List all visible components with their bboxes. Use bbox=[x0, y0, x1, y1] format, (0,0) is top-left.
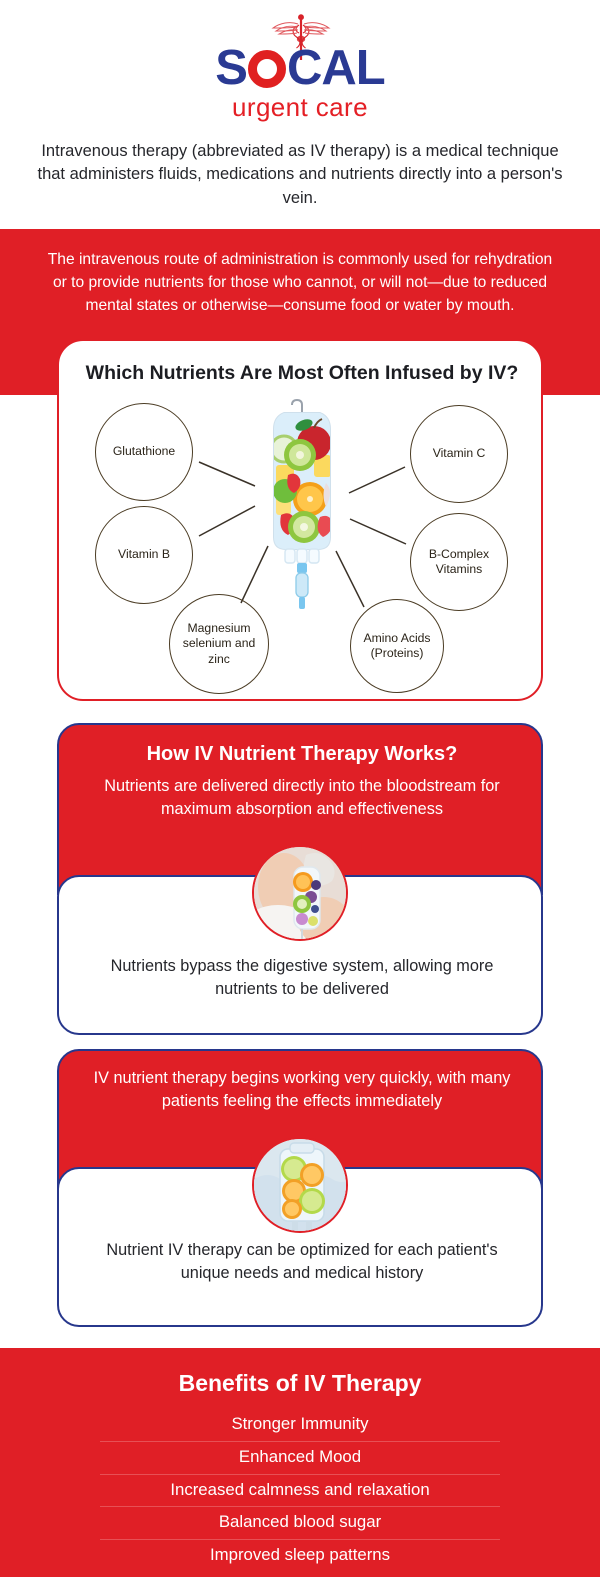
nutrients-diagram: Glutathione Vitamin C Vitamin B B-Comple… bbox=[59, 341, 545, 703]
iv-bag-with-fruits-image bbox=[252, 399, 352, 614]
benefit-item: Increased calmness and relaxation bbox=[100, 1475, 500, 1508]
benefits-title: Benefits of IV Therapy bbox=[0, 1370, 600, 1397]
benefit-item: Enhanced Mood bbox=[100, 1442, 500, 1475]
nutrient-circle-amino-acids[interactable]: Amino Acids (Proteins) bbox=[350, 599, 444, 693]
nutrient-label: Glutathione bbox=[113, 444, 175, 459]
benefit-item: Balanced blood sugar bbox=[100, 1507, 500, 1540]
benefits-section: Benefits of IV Therapy Stronger Immunity… bbox=[0, 1348, 600, 1577]
how-it-works-heading: How IV Nutrient Therapy Works? bbox=[59, 743, 545, 766]
logo-letter-s: S bbox=[215, 41, 247, 95]
nutrient-circle-vitamin-c[interactable]: Vitamin C bbox=[410, 405, 508, 503]
nutrient-circle-vitamin-b[interactable]: Vitamin B bbox=[95, 506, 193, 604]
logo-o-ring bbox=[248, 50, 286, 88]
logo-tagline: urgent care bbox=[190, 94, 410, 120]
speed-white-text: Nutrient IV therapy can be optimized for… bbox=[89, 1239, 515, 1285]
nutrient-circle-glutathione[interactable]: Glutathione bbox=[95, 403, 193, 501]
hand-holding-iv-fruit-bag-photo bbox=[252, 845, 348, 941]
red-banner-text: The intravenous route of administration … bbox=[46, 248, 554, 317]
nutrient-label: Amino Acids (Proteins) bbox=[355, 631, 439, 661]
logo-wordmark: SCAL bbox=[190, 44, 410, 93]
brand-logo: SCAL urgent care bbox=[0, 14, 600, 126]
benefit-item: Stronger Immunity bbox=[100, 1409, 500, 1442]
nutrient-label: Vitamin B bbox=[118, 547, 170, 562]
intro-paragraph: Intravenous therapy (abbreviated as IV t… bbox=[30, 140, 570, 210]
nutrient-label: Vitamin C bbox=[433, 446, 486, 461]
logo-letters-cal: CAL bbox=[287, 41, 385, 95]
nutrient-circle-magnesium[interactable]: Magnesium selenium and zinc bbox=[169, 594, 269, 694]
benefit-item: Improved sleep patterns bbox=[100, 1540, 500, 1572]
citrus-slices-in-iv-bag-photo bbox=[252, 1137, 348, 1233]
infographic-page: SCAL urgent care Intravenous therapy (ab… bbox=[0, 0, 600, 1577]
how-it-works-white-text: Nutrients bypass the digestive system, a… bbox=[89, 955, 515, 1001]
benefits-list: Stronger Immunity Enhanced Mood Increase… bbox=[100, 1409, 500, 1572]
nutrients-card: Which Nutrients Are Most Often Infused b… bbox=[57, 339, 543, 701]
how-it-works-red-text: Nutrients are delivered directly into th… bbox=[83, 775, 521, 821]
nutrient-label: Magnesium selenium and zinc bbox=[174, 621, 264, 666]
speed-red-text: IV nutrient therapy begins working very … bbox=[83, 1067, 521, 1113]
nutrient-label: B-Complex Vitamins bbox=[415, 547, 503, 577]
nutrient-circle-b-complex[interactable]: B-Complex Vitamins bbox=[410, 513, 508, 611]
